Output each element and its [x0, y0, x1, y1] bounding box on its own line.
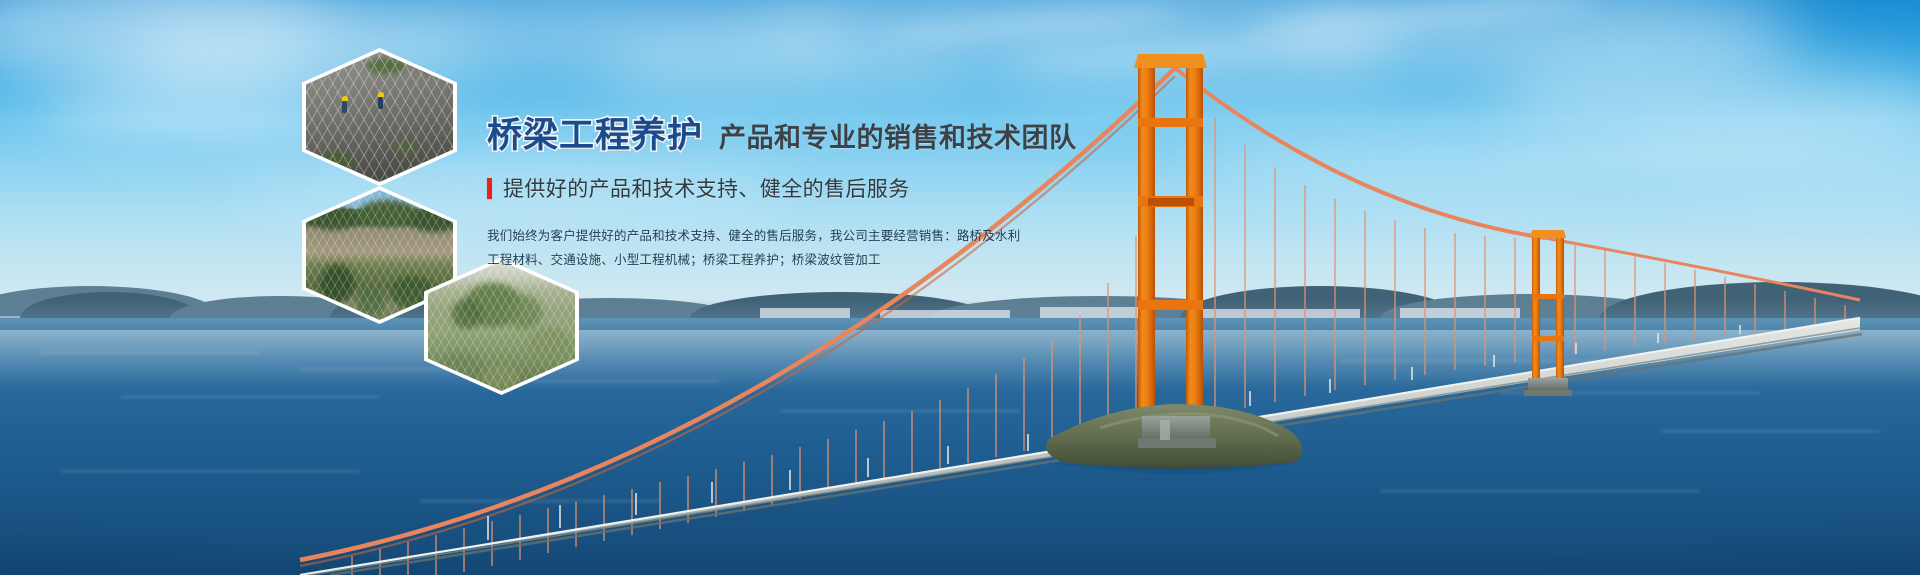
photo-vegetated-slope	[428, 261, 575, 391]
headline-primary: 桥梁工程养护	[487, 118, 703, 153]
body-line-2: 工程材料、交通设施、小型工程机械；桥梁工程养护；桥梁波纹管加工	[487, 248, 907, 272]
body-paragraph: 我们始终为客户提供好的产品和技术支持、健全的售后服务，我公司主要经营销售：路桥及…	[487, 224, 907, 273]
bridge-pier-island	[1046, 404, 1302, 474]
banner-copy: 桥梁工程养护 产品和专业的销售和技术团队 提供好的产品和技术支持、健全的售后服务…	[487, 118, 1107, 273]
body-line-1: 我们始终为客户提供好的产品和技术支持、健全的售后服务，我公司主要经营销售：路桥及…	[487, 224, 907, 248]
bridge-tower-far	[1530, 230, 1566, 386]
bridge-tower-main	[1134, 54, 1207, 438]
bridge-pier-far	[1524, 378, 1572, 396]
headline: 桥梁工程养护 产品和专业的销售和技术团队	[487, 118, 1107, 153]
suspension-bridge	[0, 0, 1920, 575]
photo-rock-slope	[306, 52, 453, 182]
subtitle-row: 提供好的产品和技术支持、健全的售后服务	[487, 173, 1107, 203]
subtitle-text: 提供好的产品和技术支持、健全的售后服务	[503, 173, 910, 203]
headline-secondary: 产品和专业的销售和技术团队	[719, 125, 1077, 152]
accent-bar-icon	[487, 178, 492, 199]
hero-banner: 桥梁工程养护 产品和专业的销售和技术团队 提供好的产品和技术支持、健全的售后服务…	[0, 0, 1920, 575]
